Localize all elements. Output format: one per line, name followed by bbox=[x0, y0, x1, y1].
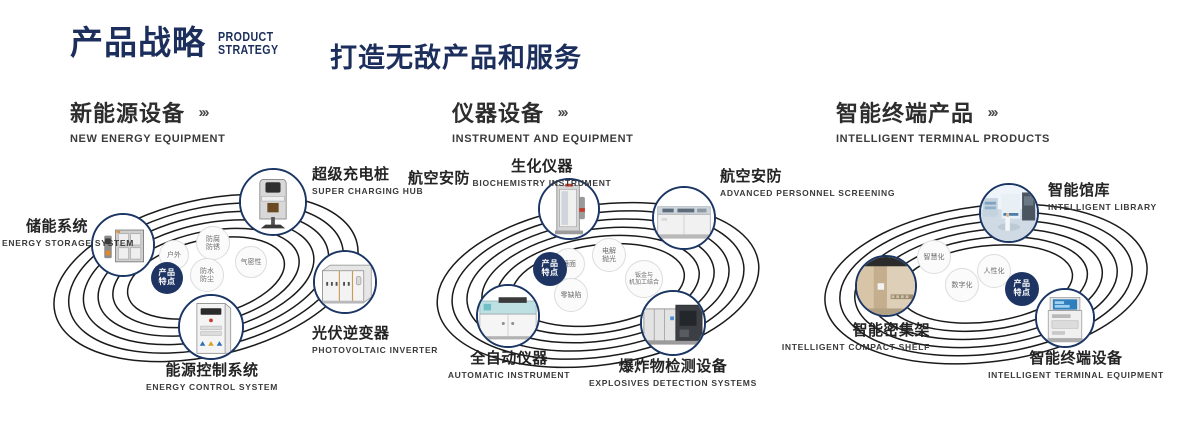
label-intelligent-terminal-equipment: 智能终端设备 INTELLIGENT TERMINAL EQUIPMENT bbox=[980, 350, 1172, 380]
label-en: INTELLIGENT LIBRARY bbox=[1048, 202, 1157, 213]
label-en: EXPLOSIVES DETECTION SYSTEMS bbox=[583, 378, 763, 389]
badge-line2: 特点 bbox=[1014, 289, 1031, 298]
body-scanner-icon bbox=[540, 180, 598, 238]
chevron-right-icon: ››› bbox=[987, 104, 996, 121]
feature-bubble: 防腐 防锈 bbox=[196, 226, 230, 260]
chevron-right-icon: ››› bbox=[557, 104, 566, 121]
node-intelligent-compact-shelf[interactable] bbox=[855, 255, 917, 317]
label-cn: 智能馆库 bbox=[1048, 182, 1157, 200]
label-en: INTELLIGENT TERMINAL EQUIPMENT bbox=[980, 370, 1172, 381]
section-title-intelligent: 智能终端产品 ››› INTELLIGENT TERMINAL PRODUCTS bbox=[836, 96, 1050, 145]
node-photovoltaic-inverter[interactable] bbox=[313, 250, 377, 314]
feature-line: 防水 bbox=[200, 267, 214, 275]
badge-line2: 特点 bbox=[542, 269, 559, 278]
inverter-cabinet-icon bbox=[315, 252, 375, 312]
node-intelligent-library[interactable] bbox=[979, 183, 1039, 243]
feature-bubble: 钣金与 机加工结合 bbox=[625, 260, 663, 298]
section-title-en: INSTRUMENT AND EQUIPMENT bbox=[452, 133, 633, 145]
feature-bubble: 智慧化 bbox=[917, 240, 951, 274]
chevron-right-icon: ››› bbox=[198, 104, 207, 121]
label-cn: 航空安防 bbox=[404, 170, 470, 188]
feature-line: 防锈 bbox=[206, 243, 220, 251]
label-intelligent-compact-shelf: 智能密集架 INTELLIGENT COMPACT SHELF bbox=[778, 322, 930, 352]
feature-line: 智慧化 bbox=[924, 253, 945, 261]
feature-line: 抛光 bbox=[602, 255, 616, 263]
label-energy-storage-system: 储能系统 ENERGY STORAGE SYSTEM bbox=[2, 218, 88, 248]
control-cabinet-icon bbox=[180, 296, 242, 358]
feature-line: 防尘 bbox=[200, 275, 214, 283]
label-automatic-instrument: 全自动仪器 AUTOMATIC INSTRUMENT bbox=[420, 350, 598, 380]
node-super-charging-hub[interactable] bbox=[239, 168, 307, 236]
product-strategy-slide: 产品战略 PRODUCT STRATEGY 打造无敌产品和服务 新能源设备 ››… bbox=[0, 0, 1200, 422]
label-cn: 智能密集架 bbox=[778, 322, 930, 340]
compact-shelf-photo-icon bbox=[857, 257, 915, 315]
feature-line: 电解 bbox=[602, 247, 616, 255]
label-cn: 爆炸物检测设备 bbox=[583, 358, 763, 376]
feature-line: 数字化 bbox=[952, 281, 973, 289]
label-energy-control-system: 能源控制系统 ENERGY CONTROL SYSTEM bbox=[122, 362, 302, 392]
feature-line: 人性化 bbox=[984, 267, 1005, 275]
label-en: AUTOMATIC INSTRUMENT bbox=[420, 370, 598, 381]
label-cn: 储能系统 bbox=[2, 218, 88, 236]
feature-bubble: 电解 抛光 bbox=[592, 238, 626, 272]
feature-bubble: 数字化 bbox=[945, 268, 979, 302]
label-biochemistry-instrument: 生化仪器 BIOCHEMISTRY INSTRUMENT bbox=[462, 158, 622, 188]
section-title-en: NEW ENERGY EQUIPMENT bbox=[70, 133, 225, 145]
node-energy-control-system[interactable] bbox=[178, 294, 244, 360]
page-title-en-line2: STRATEGY bbox=[218, 43, 279, 56]
product-features-badge: 产品 特点 bbox=[533, 252, 567, 286]
diagram-new-energy-equipment: 储能系统 ENERGY STORAGE SYSTEM 超级充电桩 SUPER C… bbox=[10, 150, 410, 400]
section-title-instrument: 仪器设备 ››› INSTRUMENT AND EQUIPMENT bbox=[452, 96, 633, 145]
label-en: INTELLIGENT COMPACT SHELF bbox=[778, 342, 930, 353]
section-title-cn: 智能终端产品 bbox=[836, 96, 974, 128]
feature-line: 防腐 bbox=[206, 235, 220, 243]
label-en: ENERGY STORAGE SYSTEM bbox=[2, 238, 88, 249]
page-header: 产品战略 PRODUCT STRATEGY bbox=[70, 26, 292, 59]
page-title: 产品战略 bbox=[70, 26, 206, 59]
label-cn: 智能终端设备 bbox=[980, 350, 1172, 368]
section-title-en: INTELLIGENT TERMINAL PRODUCTS bbox=[836, 133, 1050, 145]
feature-line: 钣金与 bbox=[635, 272, 653, 279]
feature-line: 户外 bbox=[167, 251, 181, 259]
label-cn: 能源控制系统 bbox=[122, 362, 302, 380]
feature-line: 机加工结合 bbox=[629, 279, 659, 286]
diagram-intelligent-terminal-products: 智能馆库 INTELLIGENT LIBRARY 智能密集架 INT bbox=[790, 150, 1190, 400]
node-explosives-detection-systems[interactable] bbox=[640, 290, 706, 356]
self-service-kiosk-icon bbox=[1037, 290, 1093, 346]
explosives-detector-icon bbox=[642, 292, 704, 354]
feature-bubble: 气密性 bbox=[235, 246, 267, 278]
label-aviation-security: 航空安防 bbox=[404, 170, 470, 188]
label-intelligent-library: 智能馆库 INTELLIGENT LIBRARY bbox=[1048, 182, 1157, 212]
product-features-badge: 产品 特点 bbox=[1005, 272, 1039, 306]
badge-line2: 特点 bbox=[159, 278, 176, 287]
section-title-new-energy: 新能源设备 ››› NEW ENERGY EQUIPMENT bbox=[70, 96, 225, 145]
screening-machine-icon bbox=[654, 188, 714, 248]
label-cn: 生化仪器 bbox=[462, 158, 622, 176]
label-cn: 全自动仪器 bbox=[420, 350, 598, 368]
diagram-instrument-and-equipment: 航空安防 生化仪器 BIOCHEMISTRY INSTRUMENT bbox=[400, 150, 800, 400]
feature-bubble: 防水 防尘 bbox=[190, 258, 224, 292]
section-title-cn: 仪器设备 bbox=[452, 96, 544, 128]
page-title-en: PRODUCT STRATEGY bbox=[218, 30, 279, 56]
label-en: BIOCHEMISTRY INSTRUMENT bbox=[462, 178, 622, 189]
node-intelligent-terminal-equipment[interactable] bbox=[1035, 288, 1095, 348]
section-title-cn: 新能源设备 bbox=[70, 96, 185, 128]
label-explosives-detection-systems: 爆炸物检测设备 EXPLOSIVES DETECTION SYSTEMS bbox=[583, 358, 763, 388]
ev-charger-icon bbox=[241, 170, 305, 234]
library-photo-icon bbox=[981, 185, 1037, 241]
feature-line: 气密性 bbox=[241, 258, 262, 266]
label-en: ENERGY CONTROL SYSTEM bbox=[122, 382, 302, 393]
node-advanced-personnel-screening[interactable] bbox=[652, 186, 716, 250]
product-features-badge: 产品 特点 bbox=[151, 262, 183, 294]
node-automatic-instrument[interactable] bbox=[476, 284, 540, 348]
automatic-analyzer-icon bbox=[478, 286, 538, 346]
page-subtitle: 打造无敌产品和服务 bbox=[330, 36, 582, 75]
feature-line: 零缺陷 bbox=[561, 291, 582, 299]
